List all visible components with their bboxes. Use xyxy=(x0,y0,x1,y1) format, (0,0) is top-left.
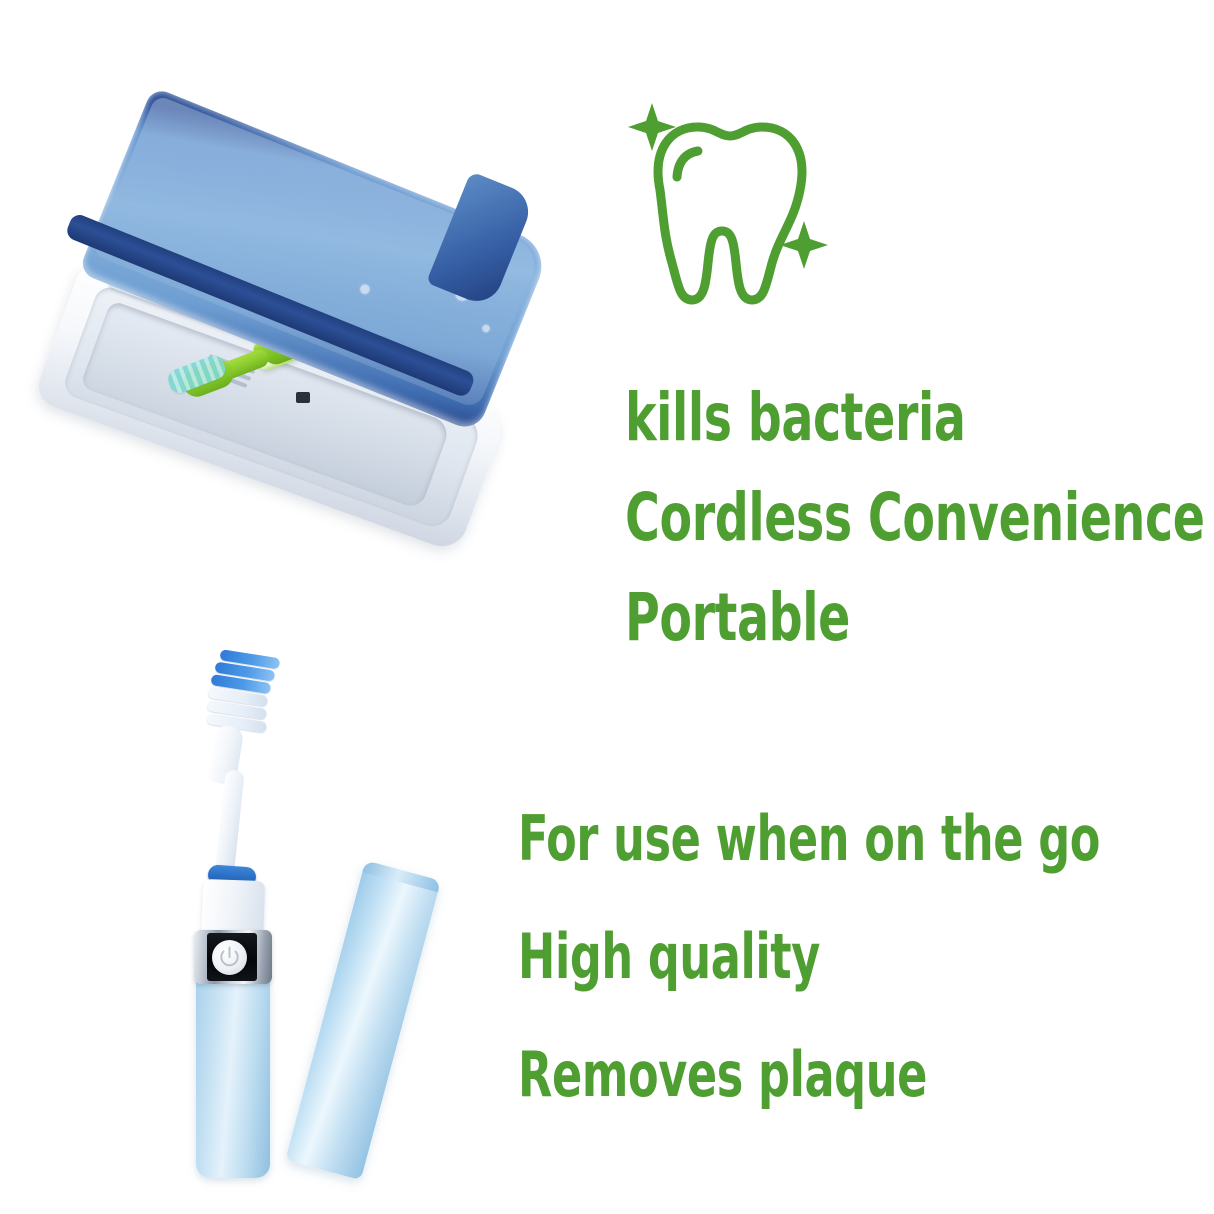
power-button[interactable] xyxy=(212,940,247,975)
feature-item: Portable xyxy=(625,568,1205,668)
feature-item: Cordless Convenience xyxy=(625,468,1205,568)
sanitizer-case-photo xyxy=(58,62,558,522)
product-feature-collage: kills bacteria Cordless Convenience Port… xyxy=(0,0,1214,1214)
feature-list-top: kills bacteria Cordless Convenience Port… xyxy=(625,368,1214,668)
tray-notch xyxy=(296,392,310,403)
electric-toothbrush-photo xyxy=(150,630,450,1190)
feature-item: kills bacteria xyxy=(625,368,1205,468)
lid-vent-dot xyxy=(482,324,491,333)
brush-stem xyxy=(214,769,244,880)
tooth-icon xyxy=(622,95,832,310)
toothbrush-body xyxy=(196,978,270,1178)
lid-vent-dot xyxy=(359,283,371,295)
feature-item: For use when on the go xyxy=(518,780,1100,898)
power-icon xyxy=(212,940,247,975)
brush-head-bristles xyxy=(202,648,276,739)
feature-list-bottom: For use when on the go High quality Remo… xyxy=(518,780,1214,1134)
travel-cap xyxy=(285,860,441,1180)
feature-item: High quality xyxy=(518,898,1100,1016)
feature-item: Removes plaque xyxy=(518,1016,1100,1134)
